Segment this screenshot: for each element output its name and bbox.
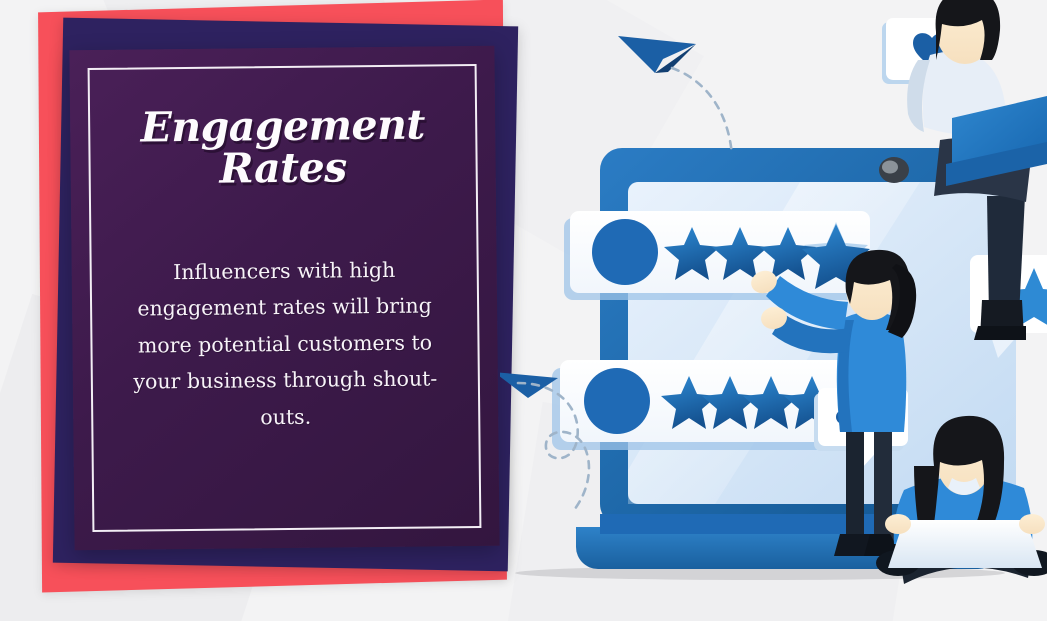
review-card-top[interactable]	[564, 211, 870, 300]
person-shoe	[834, 534, 870, 556]
page-title: Engagement Rates	[140, 105, 425, 192]
illustration	[500, 0, 1047, 621]
person-hand	[1019, 514, 1045, 534]
person-laptop	[888, 520, 1042, 568]
infographic-canvas: Engagement Rates Influencers with high e…	[0, 0, 1047, 621]
person-leg	[987, 196, 1025, 316]
card-body-text: Influencers with high engagement rates w…	[119, 251, 451, 437]
content-card: Engagement Rates Influencers with high e…	[69, 46, 499, 550]
paper-plane-top	[618, 36, 732, 155]
person-boot-sole	[974, 326, 1026, 340]
avatar	[592, 219, 658, 285]
paper-plane-icon	[500, 372, 558, 398]
avatar	[584, 368, 650, 434]
page-title-line-2: Rates	[141, 146, 426, 191]
webcam-lens	[882, 161, 898, 174]
person-hand	[885, 514, 911, 534]
paper-plane-trail	[672, 68, 732, 155]
person-leg	[846, 430, 864, 542]
card-content: Engagement Rates Influencers with high e…	[69, 46, 499, 550]
